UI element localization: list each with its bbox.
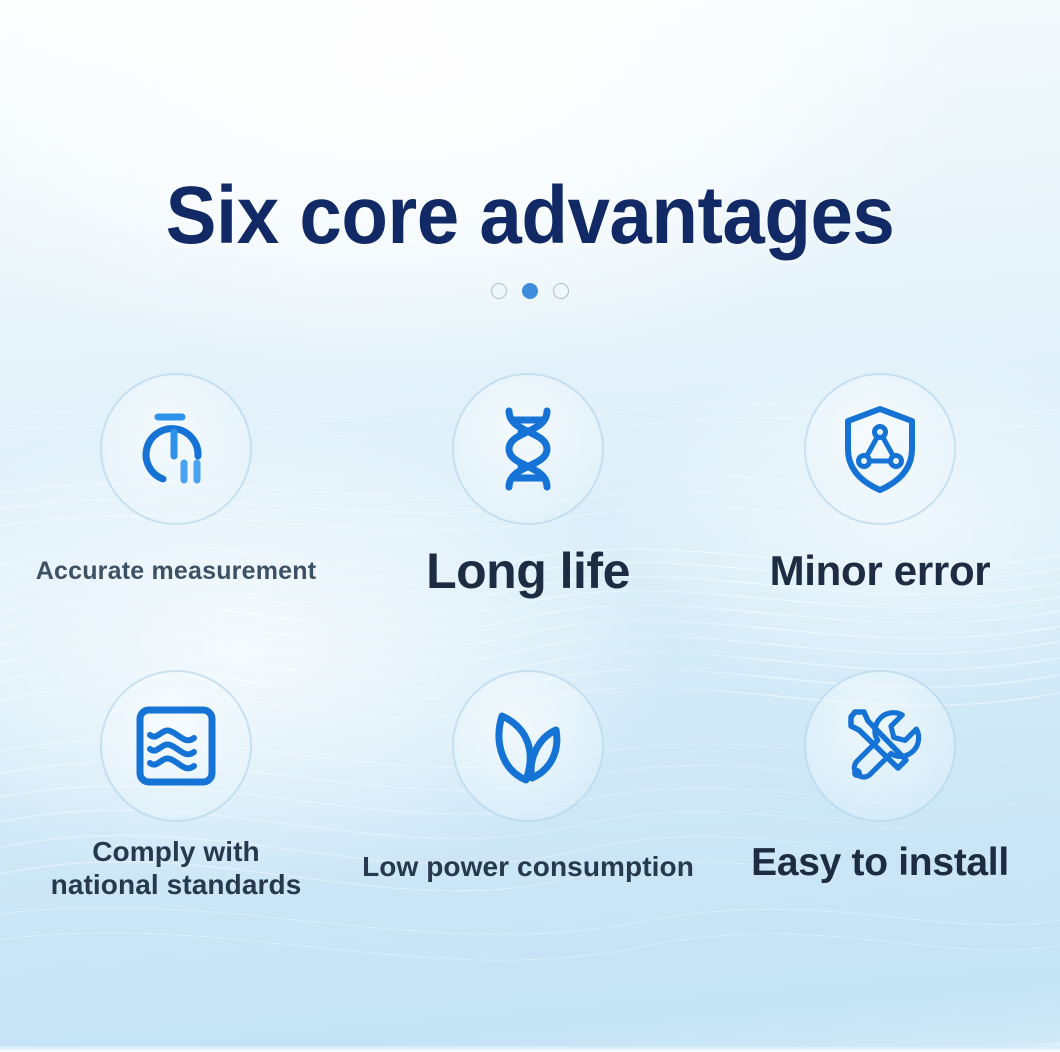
page-title: Six core advantages	[37, 168, 1023, 264]
advantage-item-long-life[interactable]: Long life	[352, 370, 704, 667]
shield-network-icon	[834, 401, 926, 497]
icon-circle-accurate-measurement	[100, 373, 252, 525]
leaf-icon	[482, 700, 574, 792]
advantages-banner: Six core advantages	[0, 0, 1060, 1052]
bottom-edge-strip	[0, 1046, 1060, 1052]
advantage-item-accurate-measurement[interactable]: Accurate measurement	[0, 370, 352, 667]
advantage-label-long-life: Long life	[352, 542, 704, 600]
wrench-screwdriver-icon	[834, 700, 926, 792]
icon-circle-low-power-consumption	[452, 670, 604, 822]
advantage-item-minor-error[interactable]: Minor error	[704, 370, 1056, 667]
carousel-dot-1[interactable]	[491, 283, 507, 299]
advantage-label-accurate-measurement: Accurate measurement	[0, 556, 352, 586]
advantages-row-1: Accurate measurement	[0, 370, 1060, 667]
carousel-dot-2[interactable]	[522, 283, 538, 299]
icon-circle-long-life	[452, 373, 604, 525]
advantage-label-minor-error: Minor error	[704, 546, 1056, 596]
carousel-dots[interactable]	[0, 283, 1060, 299]
advantages-grid: Accurate measurement	[0, 370, 1060, 964]
dna-helix-icon	[483, 401, 573, 497]
advantage-item-comply-with-national-standards[interactable]: Comply with national standards	[0, 667, 352, 964]
icon-circle-minor-error	[804, 373, 956, 525]
advantage-label-easy-to-install: Easy to install	[704, 839, 1056, 886]
carousel-dot-3[interactable]	[553, 283, 569, 299]
advantages-row-2: Comply with national standards Low power…	[0, 667, 1060, 964]
gauge-meter-icon	[128, 401, 224, 497]
advantage-item-low-power-consumption[interactable]: Low power consumption	[352, 667, 704, 964]
icon-circle-comply-with-national-standards	[100, 670, 252, 822]
advantage-item-easy-to-install[interactable]: Easy to install	[704, 667, 1056, 964]
advantage-label-comply-with-national-standards: Comply with national standards	[0, 835, 352, 901]
advantage-label-low-power-consumption: Low power consumption	[352, 850, 704, 884]
waves-square-icon	[130, 700, 222, 792]
icon-circle-easy-to-install	[804, 670, 956, 822]
